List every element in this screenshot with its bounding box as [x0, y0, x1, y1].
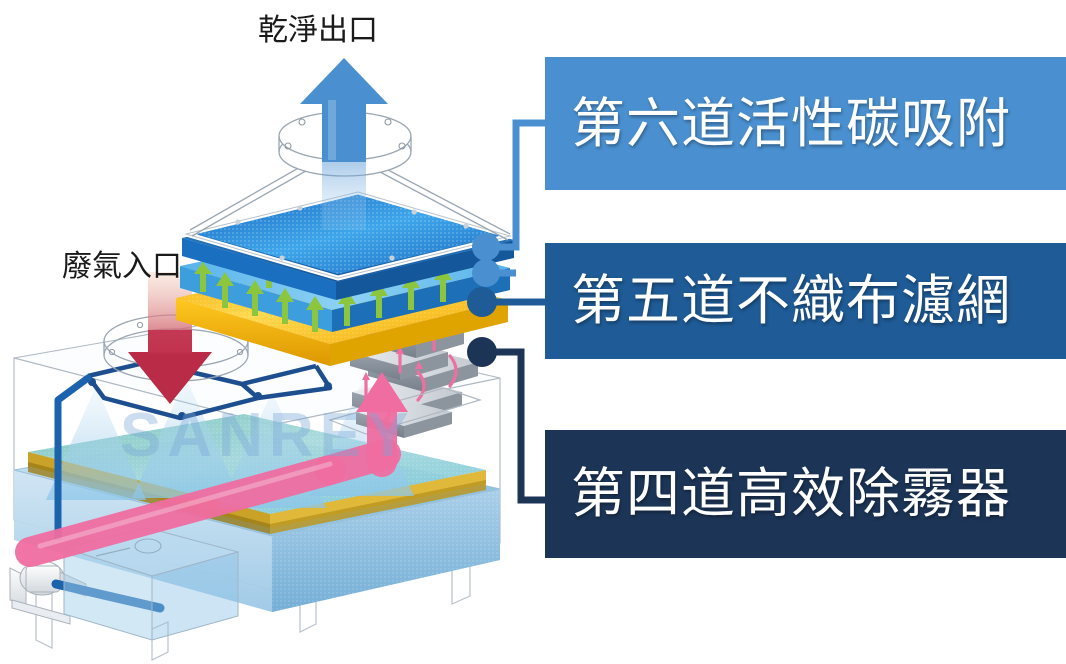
callout-stage-six-label: 第六道活性碳吸附	[571, 97, 1011, 151]
callout-stage-four[interactable]: 第四道高效除霧器	[545, 430, 1066, 558]
callout-stage-six[interactable]: 第六道活性碳吸附	[545, 57, 1066, 190]
diagram-canvas: SANREY 乾淨出口 廢氣入口 第六道活性碳吸附 第五道不織布濾網 第四道高效…	[0, 0, 1066, 664]
callout-stage-five-label: 第五道不織布濾網	[571, 274, 1011, 328]
callout-stage-four-label: 第四道高效除霧器	[571, 467, 1011, 521]
dot-stage-six-a	[472, 233, 500, 261]
waste-gas-inlet-label: 廢氣入口	[62, 252, 182, 282]
dot-stage-six-b	[472, 259, 500, 287]
callout-stage-five[interactable]: 第五道不織布濾網	[545, 243, 1066, 359]
clean-outlet-label: 乾淨出口	[258, 16, 378, 46]
dot-stage-five	[467, 287, 497, 317]
dot-stage-four	[467, 337, 497, 367]
